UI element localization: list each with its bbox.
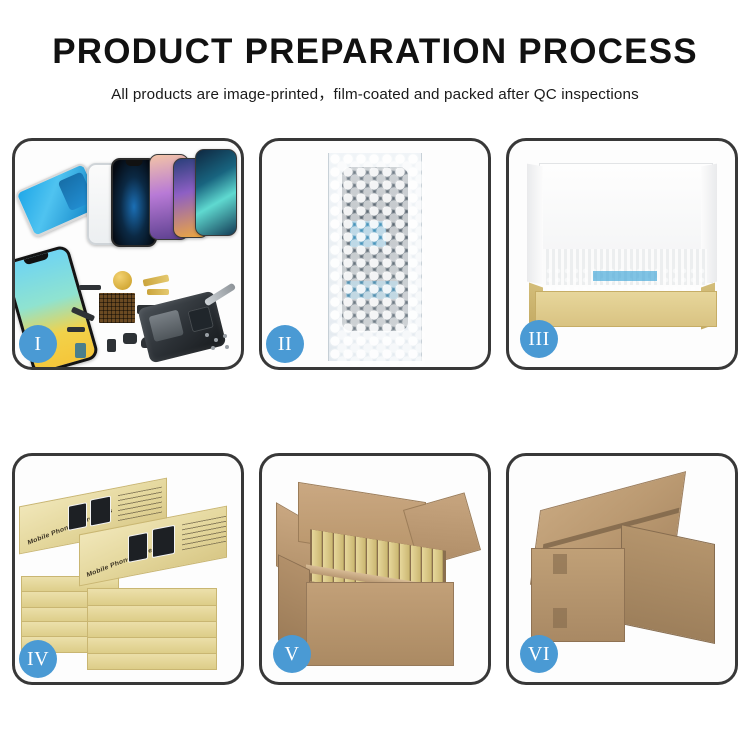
retail-box-thumbnail: [152, 525, 175, 558]
spare-part-vibrator: [107, 339, 116, 352]
step-badge-2: II: [266, 325, 304, 363]
process-step-panel-5: V: [259, 453, 491, 685]
retail-box-stack-layer: [87, 620, 217, 638]
step-badge-4: IV: [19, 640, 57, 678]
spare-part-flex-cable-b: [147, 289, 169, 295]
carton-tab-upper: [553, 554, 567, 574]
process-step-grid: I II III: [12, 138, 738, 685]
step-badge-5: V: [273, 635, 311, 673]
teal-wave-phone: [195, 149, 237, 236]
retail-box-stack-layer: [87, 604, 217, 622]
process-step-panel-6: VI: [506, 453, 738, 685]
step-badge-6: VI: [520, 635, 558, 673]
notch-icon: [24, 253, 49, 266]
retail-box-spec-lines: [118, 487, 162, 522]
carton-front-face: [306, 582, 454, 666]
process-step-panel-4: Mobile Phone Spare Parts Mobile Phone Sp…: [12, 453, 244, 685]
retail-box-stack-layer: [87, 636, 217, 654]
notch-icon: [126, 160, 143, 166]
retail-box-thumbnail: [128, 532, 148, 563]
retail-box-spec-lines: [182, 516, 226, 551]
sealed-carton-right-face: [621, 524, 715, 644]
retail-box-thumbnail: [90, 496, 111, 527]
retail-box-stack-layer: [87, 652, 217, 670]
spare-part-speaker-coil: [113, 271, 132, 290]
process-step-panel-3: III: [506, 138, 738, 370]
spare-part-cable-d: [67, 327, 85, 332]
carton-tab-lower: [553, 608, 567, 628]
box-flap-left: [527, 164, 543, 285]
page-title: PRODUCT PREPARATION PROCESS: [0, 34, 750, 71]
spare-part-logic-board: [99, 293, 135, 323]
screw-set: [205, 333, 235, 353]
process-step-panel-1: I: [12, 138, 244, 370]
step-badge-3: III: [520, 320, 558, 358]
page-header: PRODUCT PREPARATION PROCESS All products…: [0, 0, 750, 104]
spare-part-battery: [75, 343, 86, 358]
spare-part-flex-cable-a: [143, 274, 170, 286]
sealed-carton-left-face: [531, 548, 625, 642]
process-step-panel-2: II: [259, 138, 491, 370]
wrapped-phone-screen: [342, 167, 408, 331]
step-badge-1: I: [19, 325, 57, 363]
page-subtitle: All products are image-printed，film-coat…: [0, 82, 750, 104]
spare-part-antenna-strip: [79, 285, 101, 290]
box-front-wall: [535, 291, 717, 327]
retail-box-thumbnail: [68, 502, 87, 531]
retail-box-stack-layer: [87, 588, 217, 606]
boxed-wrapped-screen: [545, 267, 707, 293]
spare-part-camera-module: [123, 333, 137, 344]
